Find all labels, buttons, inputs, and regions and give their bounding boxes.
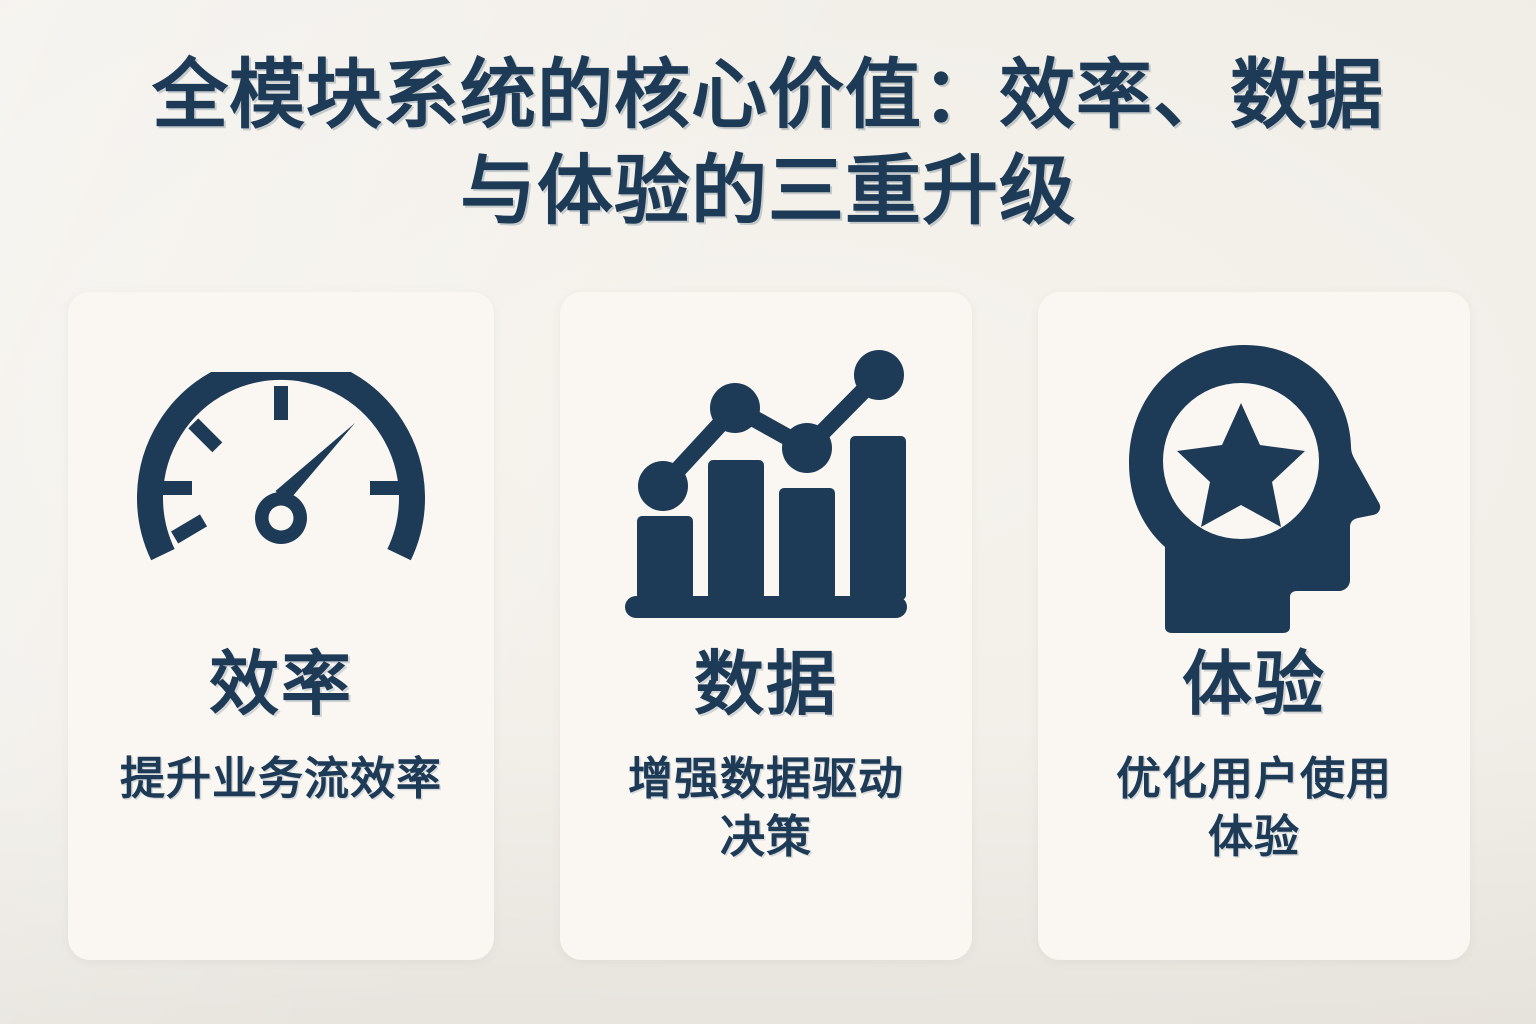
value-card-description: 提升业务流效率 — [120, 750, 442, 808]
speedometer-gauge-icon — [136, 338, 426, 638]
value-card-efficiency[interactable]: 效率 提升业务流效率 — [68, 292, 494, 960]
page-title: 全模块系统的核心价值：效率、数据 与体验的三重升级 — [0, 48, 1536, 240]
value-card-title: 效率 — [209, 644, 353, 724]
value-card-title: 体验 — [1182, 644, 1326, 724]
value-card-description: 优化用户使用体验 — [1104, 750, 1404, 866]
value-card-description: 增强数据驱动决策 — [616, 750, 916, 866]
page-title-line-1: 全模块系统的核心价值：效率、数据 — [0, 48, 1536, 144]
value-card-title: 数据 — [694, 644, 838, 724]
bar-chart-trend-icon — [621, 338, 911, 638]
slide-canvas: 全模块系统的核心价值：效率、数据 与体验的三重升级 — [0, 0, 1536, 1024]
page-title-line-2: 与体验的三重升级 — [0, 144, 1536, 240]
value-cards-row: 效率 提升业务流效率 — [68, 292, 1470, 960]
head-profile-star-icon — [1123, 338, 1385, 638]
value-card-data[interactable]: 数据 增强数据驱动决策 — [560, 292, 972, 960]
value-card-experience[interactable]: 体验 优化用户使用体验 — [1038, 292, 1470, 960]
